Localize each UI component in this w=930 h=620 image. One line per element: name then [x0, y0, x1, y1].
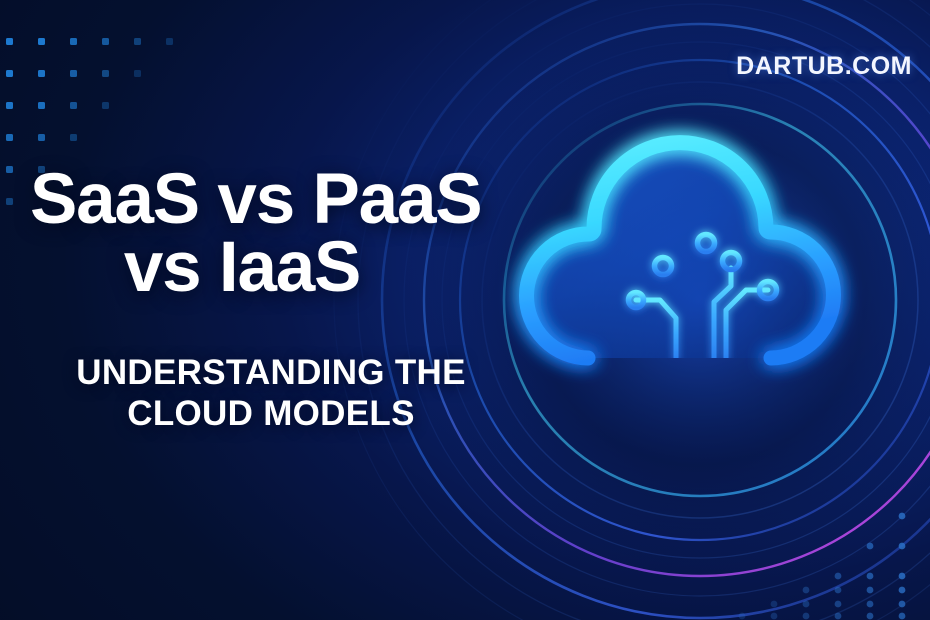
headline-line-1: SaaS vs PaaS [30, 166, 510, 234]
page-title: SaaS vs PaaS vs IaaS [30, 166, 510, 302]
poster-canvas: DARTUB.COM SaaS vs PaaS vs IaaS UNDERSTA… [0, 0, 930, 620]
subtitle-line-1: UNDERSTANDING THE [76, 353, 465, 392]
watermark-text: DARTUB.COM [736, 52, 912, 81]
cloud-circuit-icon [0, 0, 930, 620]
page-subtitle: UNDERSTANDING THE CLOUD MODELS [28, 352, 514, 435]
headline-line-2: vs IaaS [30, 234, 510, 302]
subtitle-line-2: CLOUD MODELS [28, 393, 514, 434]
